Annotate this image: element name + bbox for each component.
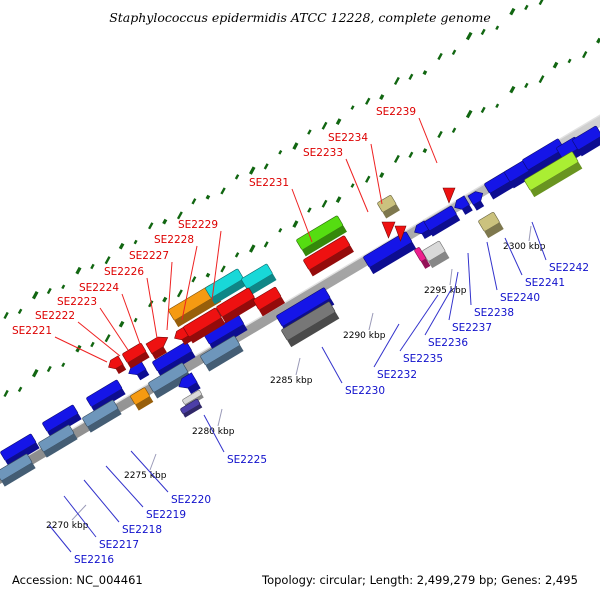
gene-label-text[interactable]: SE2238 [474, 307, 514, 319]
scale-tick-4: 2290 kbp [343, 313, 386, 341]
gene-label-se2218[interactable]: SE2218 [84, 480, 162, 536]
gene-label-se2226[interactable]: SE2226 [104, 266, 157, 338]
gene-label-text[interactable]: SE2229 [178, 219, 218, 231]
gene-label-se2234[interactable]: SE2234 [328, 132, 382, 204]
gene-label-se2230[interactable]: SE2230 [322, 347, 385, 397]
gc-track-upper [0, 31, 600, 402]
gene-label-text[interactable]: SE2241 [525, 277, 565, 289]
gene-se2240-khaki[interactable] [478, 212, 504, 238]
gene-label-text[interactable]: SE2225 [227, 454, 267, 466]
gene-label-text[interactable]: SE2232 [377, 369, 417, 381]
accession-text: Accession: NC_004461 [12, 573, 143, 587]
gene-se2234-khaki[interactable] [377, 195, 400, 219]
gene-label-se2236[interactable]: SE2236 [425, 288, 468, 349]
scale-tick-label: 2285 kbp [270, 376, 313, 386]
gene-label-text[interactable]: SE2219 [146, 509, 186, 521]
gene-label-se2233[interactable]: SE2233 [303, 147, 368, 212]
gene-label-text[interactable]: SE2231 [249, 177, 289, 189]
gene-label-text[interactable]: SE2240 [500, 292, 540, 304]
scale-tick-0: 2270 kbp [46, 505, 89, 531]
gene-label-text[interactable]: SE2224 [79, 282, 119, 294]
gene-label-text[interactable]: SE2234 [328, 132, 368, 144]
page-title: Staphylococcus epidermidis ATCC 12228, c… [109, 10, 491, 25]
gene-label-text[interactable]: SE2222 [35, 310, 75, 322]
scale-tick-label: 2295 kbp [424, 286, 467, 296]
gene-label-se2225[interactable]: SE2225 [204, 415, 267, 466]
gene-label-text[interactable]: SE2226 [104, 266, 144, 278]
gene-label-text[interactable]: SE2230 [345, 385, 385, 397]
gene-label-text[interactable]: SE2216 [74, 554, 114, 566]
gene-se2221-arrow[interactable] [106, 356, 126, 377]
genome-map-viewer: Staphylococcus epidermidis ATCC 12228, c… [0, 0, 600, 600]
gene-label-text[interactable]: SE2242 [549, 262, 589, 274]
genome-stats-text: Topology: circular; Length: 2,499,279 bp… [261, 573, 578, 587]
scale-tick-5: 2295 kbp [424, 269, 467, 296]
gene-se2233-red-a[interactable] [382, 222, 395, 238]
gene-label-text[interactable]: SE2239 [376, 106, 416, 118]
gene-label-text[interactable]: SE2221 [12, 325, 52, 337]
gene-label-text[interactable]: SE2217 [99, 539, 139, 551]
gene-label-text[interactable]: SE2223 [57, 296, 97, 308]
gene-label-se2235[interactable]: SE2235 [400, 295, 443, 365]
scale-tick-label: 2275 kbp [124, 471, 167, 481]
gene-label-text[interactable]: SE2236 [428, 337, 468, 349]
gene-label-se2239[interactable]: SE2239 [376, 106, 437, 163]
scale-tick-3: 2285 kbp [270, 358, 313, 386]
gc-track-lower [0, 0, 600, 324]
gene-label-text[interactable]: SE2227 [129, 250, 169, 262]
gene-label-text[interactable]: SE2237 [452, 322, 492, 334]
gene-label-text[interactable]: SE2228 [154, 234, 194, 246]
gene-label-text[interactable]: SE2218 [122, 524, 162, 536]
scale-tick-label: 2290 kbp [343, 331, 386, 341]
gene-label-text[interactable]: SE2235 [403, 353, 443, 365]
gene-label-text[interactable]: SE2220 [171, 494, 211, 506]
gene-se2239-red[interactable] [443, 188, 455, 203]
genome-map-canvas[interactable]: Staphylococcus epidermidis ATCC 12228, c… [0, 0, 600, 600]
gene-se2232-blue[interactable] [363, 231, 416, 274]
gene-label-text[interactable]: SE2233 [303, 147, 343, 159]
